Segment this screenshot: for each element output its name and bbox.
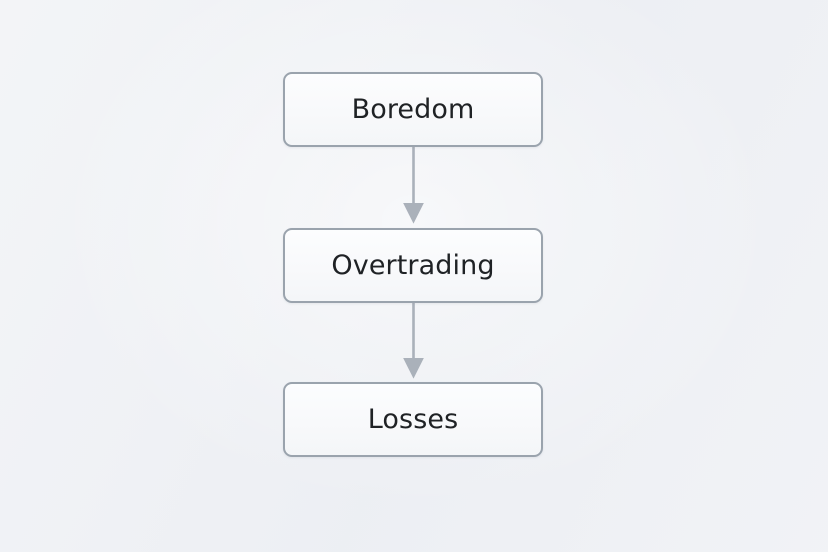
flowchart-node-overtrading[interactable]: Overtrading (283, 228, 543, 303)
flowchart-node-boredom[interactable]: Boredom (283, 72, 543, 147)
flowchart: Boredom Overtrading Losses (0, 0, 828, 552)
flowchart-node-label: Losses (368, 406, 459, 433)
flowchart-node-losses[interactable]: Losses (283, 382, 543, 457)
flowchart-node-label: Boredom (352, 96, 475, 123)
flowchart-node-label: Overtrading (331, 252, 494, 279)
diagram-canvas: Boredom Overtrading Losses (0, 0, 828, 552)
